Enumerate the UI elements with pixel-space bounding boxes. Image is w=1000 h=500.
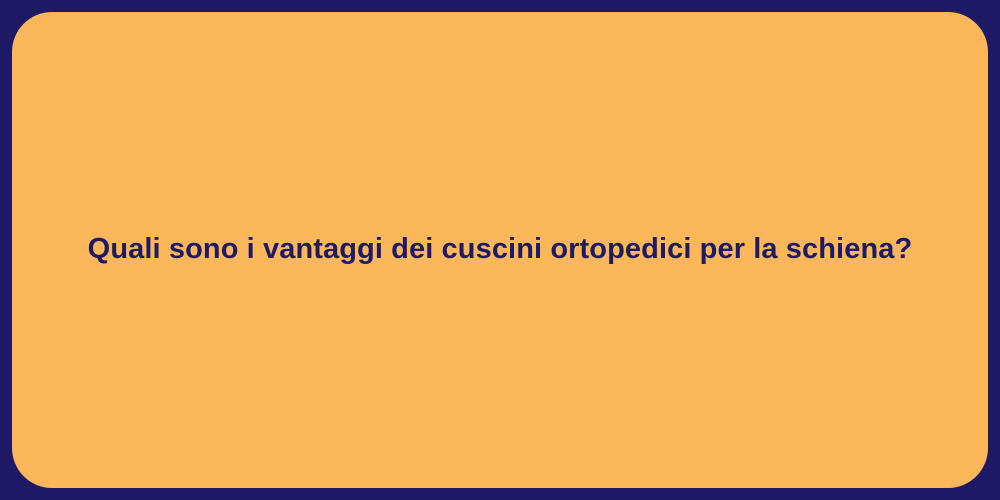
question-headline: Quali sono i vantaggi dei cuscini ortope… [88,231,913,269]
question-card-panel: Quali sono i vantaggi dei cuscini ortope… [12,12,988,488]
question-card-frame: Quali sono i vantaggi dei cuscini ortope… [0,0,1000,500]
